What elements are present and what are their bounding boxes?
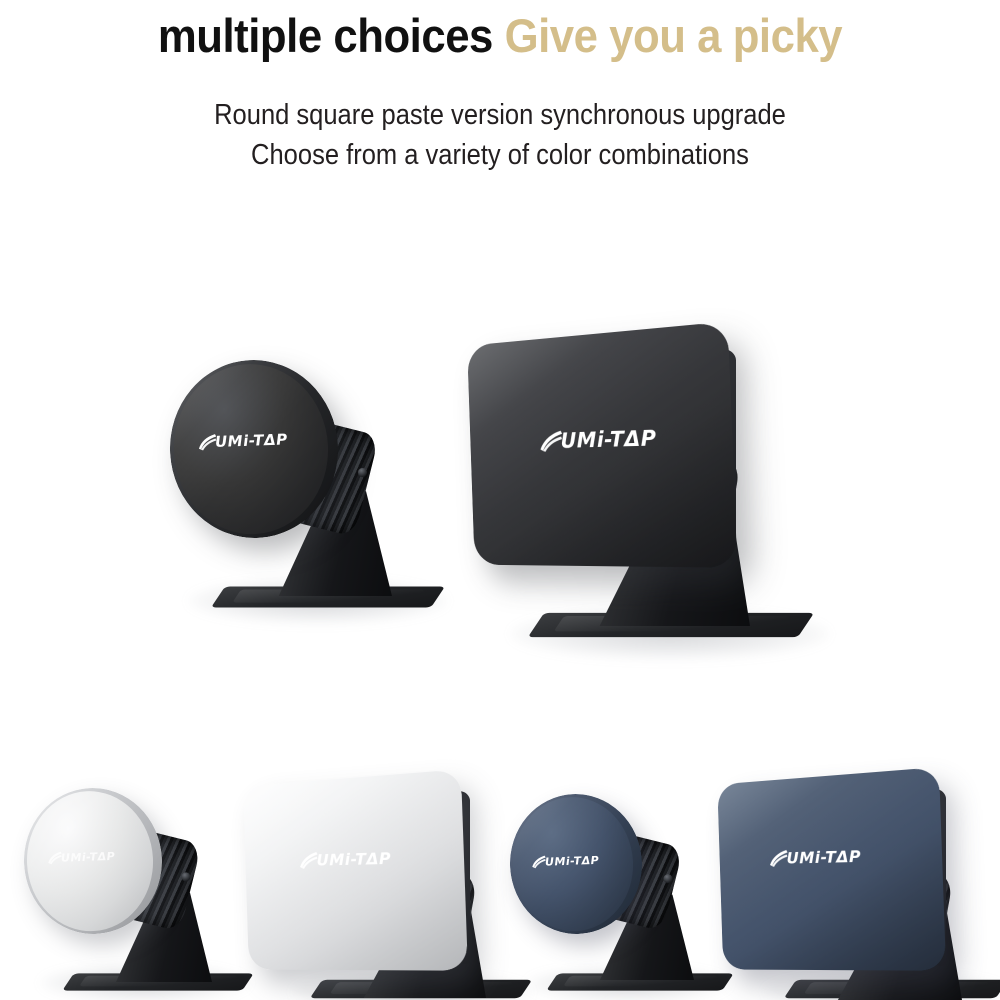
product-black-square[interactable]: UMi-TΔP: [450, 330, 870, 670]
magnetic-head-square[interactable]: [243, 769, 468, 970]
product-navy-round[interactable]: UMi-TΔP: [508, 790, 738, 1000]
product-banner: multiple choices Give you a picky Round …: [0, 0, 1000, 1000]
product-navy-square[interactable]: UMi-TΔP: [706, 772, 1000, 1000]
product-white-round[interactable]: UMi-TΔP: [20, 782, 250, 1000]
magnetic-head-square[interactable]: [467, 321, 737, 567]
product-white-square[interactable]: UMi-TΔP: [232, 776, 532, 1000]
magnetic-head-square[interactable]: [717, 767, 946, 971]
product-stage: UMi-TΔP: [0, 0, 1000, 1000]
product-black-round[interactable]: UMi-TΔP: [170, 340, 450, 640]
